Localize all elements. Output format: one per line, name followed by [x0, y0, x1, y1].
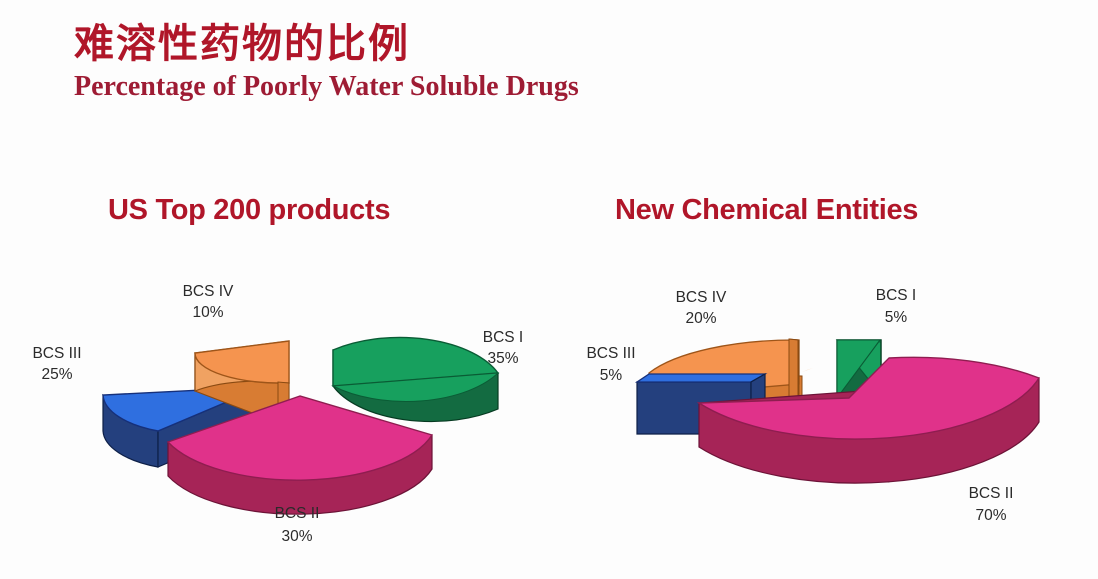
- page-title-english: Percentage of Poorly Water Soluble Drugs: [74, 70, 579, 104]
- slide-canvas: 难溶性药物的比例 Percentage of Poorly Water Solu…: [0, 0, 1098, 579]
- pie-label-bcs-iv-value: 20%: [685, 310, 716, 327]
- pie-label-bcs-iii-name: BCS III: [586, 345, 635, 362]
- pie-label-bcs-iv-value: 10%: [192, 304, 223, 321]
- pie-label-bcs-iii-value: 5%: [600, 367, 623, 384]
- pie-label-bcs-ii-value: 70%: [975, 507, 1006, 524]
- pie-label-bcs-i-value: 5%: [885, 309, 908, 326]
- pie-label-bcs-ii: BCS II 70%: [969, 485, 1014, 524]
- chart-title-us-top-200: US Top 200 products: [108, 194, 390, 227]
- pie-label-bcs-iii-value: 25%: [41, 366, 72, 383]
- pie-label-bcs-ii: BCS II 30%: [275, 505, 320, 545]
- pie-label-bcs-iii-name: BCS III: [32, 345, 81, 362]
- pie-label-bcs-i-name: BCS I: [876, 287, 916, 304]
- pie-label-bcs-ii-value: 30%: [281, 528, 312, 545]
- pie-slice-bcs-i[interactable]: [333, 334, 498, 422]
- pie-label-bcs-ii-name: BCS II: [969, 485, 1014, 502]
- pie-label-bcs-iv-name: BCS IV: [183, 283, 234, 300]
- pie-label-bcs-i: BCS I 5%: [876, 287, 916, 326]
- pie-label-bcs-iii: BCS III 25%: [32, 345, 81, 383]
- pie-chart-new-chemical-entities: BCS IV 20% BCS III 5% BCS I 5% BCS II 70…: [549, 270, 1098, 570]
- pie-label-bcs-iv: BCS IV 10%: [183, 283, 234, 321]
- pie-label-bcs-iii: BCS III 5%: [586, 345, 635, 384]
- pie-label-bcs-ii-name: BCS II: [275, 505, 320, 522]
- pie-label-bcs-iv-name: BCS IV: [676, 289, 727, 306]
- slide-header: 难溶性药物的比例 Percentage of Poorly Water Solu…: [74, 22, 579, 104]
- pie-label-bcs-i: BCS I 35%: [483, 329, 523, 367]
- pie-chart-us-top-200: BCS III 25% BCS IV 10% BCS I 35% BCS II …: [0, 270, 549, 570]
- chart-title-new-chemical-entities: New Chemical Entities: [615, 194, 918, 227]
- pie-label-bcs-i-name: BCS I: [483, 329, 523, 346]
- pie-chart-new-chemical-entities-svg: BCS IV 20% BCS III 5% BCS I 5% BCS II 70…: [549, 270, 1098, 570]
- page-title-chinese: 难溶性药物的比例: [74, 22, 579, 66]
- pie-label-bcs-i-value: 35%: [487, 350, 518, 367]
- pie-label-bcs-iv: BCS IV 20%: [676, 289, 727, 327]
- pie-chart-us-top-200-svg: BCS III 25% BCS IV 10% BCS I 35% BCS II …: [0, 270, 549, 570]
